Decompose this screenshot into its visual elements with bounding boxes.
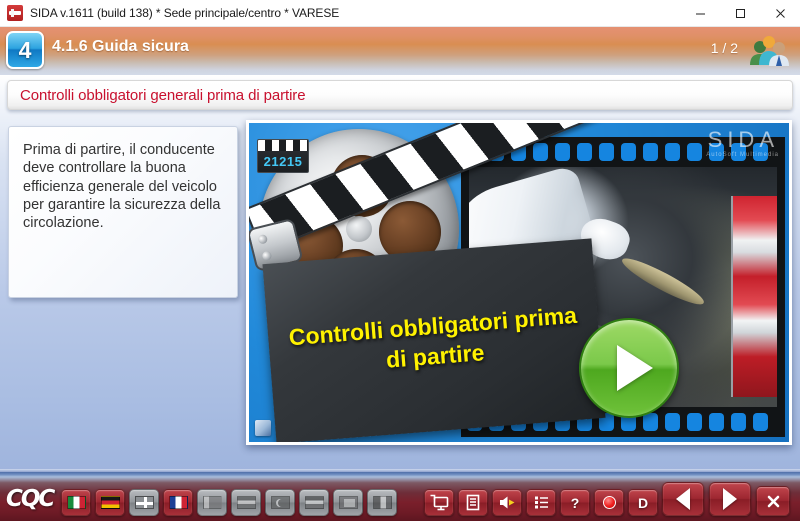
clip-tag-stripe	[258, 140, 308, 151]
presentation-screen-button[interactable]	[424, 489, 454, 516]
flag-disabled-1-icon	[203, 496, 222, 509]
play-button[interactable]	[579, 318, 679, 418]
window-controls	[680, 0, 800, 27]
audio-play-button[interactable]	[492, 489, 522, 516]
record-button[interactable]	[594, 489, 624, 516]
document-icon	[465, 494, 481, 511]
film-hole	[687, 143, 702, 161]
flag-italian-icon	[67, 496, 86, 509]
flag-disabled-5-icon	[339, 496, 358, 509]
description-panel: Prima di partire, il conducente deve con…	[8, 126, 238, 298]
clip-number: 21215	[258, 151, 308, 172]
topic-subtitle: Controlli obbligatori generali prima di …	[20, 87, 305, 104]
film-hole	[665, 413, 680, 431]
index-list-button[interactable]	[526, 489, 556, 516]
film-hole	[665, 143, 680, 161]
users-group-icon[interactable]	[746, 35, 792, 67]
film-hole	[731, 143, 746, 161]
dictionary-label: D	[638, 496, 648, 510]
maximize-button[interactable]	[720, 0, 760, 27]
lesson-header: 4 4.1.6 Guida sicura 1 / 2	[0, 27, 800, 75]
reel-hub	[346, 216, 372, 242]
close-icon	[766, 494, 781, 509]
presentation-screen-icon	[430, 494, 449, 511]
flag-disabled-2-icon	[237, 496, 256, 509]
clip-number-tag: 21215	[257, 139, 309, 173]
film-hole	[643, 143, 658, 161]
language-button-disabled-3	[265, 489, 295, 516]
arrow-left-icon	[676, 488, 690, 510]
language-button-italian[interactable]	[61, 489, 91, 516]
next-button[interactable]	[709, 482, 751, 516]
film-hole	[753, 413, 768, 431]
film-hole	[687, 413, 702, 431]
language-button-disabled-5	[333, 489, 363, 516]
list-index-icon	[533, 494, 550, 511]
language-button-disabled-6	[367, 489, 397, 516]
clapperboard-slate: Controlli obbligatori prima di partire	[262, 238, 605, 443]
flag-disabled-6-icon	[373, 496, 392, 509]
page-indicator: 1 / 2	[711, 40, 738, 56]
film-hole	[709, 143, 724, 161]
film-hole	[533, 143, 548, 161]
language-button-disabled-1	[197, 489, 227, 516]
window-titlebar: SIDA v.1611 (build 138) * Sede principal…	[0, 0, 800, 27]
close-window-button[interactable]	[760, 0, 800, 27]
flag-german-icon	[101, 496, 120, 509]
film-hole	[577, 143, 592, 161]
arrow-right-icon	[723, 488, 737, 510]
window-title: SIDA v.1611 (build 138) * Sede principal…	[30, 6, 339, 20]
help-button[interactable]: ?	[560, 489, 590, 516]
lesson-title: 4.1.6 Guida sicura	[52, 38, 189, 56]
sida-corner-icon	[255, 420, 271, 436]
flag-disabled-4-icon	[305, 496, 324, 509]
language-button-german[interactable]	[95, 489, 125, 516]
previous-button[interactable]	[662, 482, 704, 516]
film-hole	[709, 413, 724, 431]
topic-subtitle-bar: Controlli obbligatori generali prima di …	[7, 80, 793, 110]
record-icon	[603, 496, 616, 509]
application-window: SIDA v.1611 (build 138) * Sede principal…	[0, 0, 800, 521]
film-hole	[621, 143, 636, 161]
description-text: Prima di partire, il conducente deve con…	[23, 141, 223, 232]
film-hole	[753, 143, 768, 161]
dictionary-button[interactable]: D	[628, 489, 658, 516]
film-hole	[643, 413, 658, 431]
sida-app-icon	[7, 5, 23, 21]
flag-disabled-3-icon	[271, 496, 290, 509]
flag-english-icon	[135, 496, 154, 509]
vehicle-taillight	[731, 196, 777, 398]
language-button-disabled-2	[231, 489, 261, 516]
chapter-number-badge: 4	[6, 31, 44, 69]
clapperboard-title: Controlli obbligatori prima di partire	[267, 298, 601, 384]
language-button-disabled-4	[299, 489, 329, 516]
help-label: ?	[571, 496, 580, 510]
video-thumbnail[interactable]: SIDA AutoSoft Multimedia Controlli obbli…	[246, 120, 792, 445]
minimize-button[interactable]	[680, 0, 720, 27]
play-triangle-icon	[617, 345, 653, 391]
flag-french-icon	[169, 496, 188, 509]
language-button-french[interactable]	[163, 489, 193, 516]
document-button[interactable]	[458, 489, 488, 516]
film-hole	[599, 143, 614, 161]
audio-play-icon	[498, 494, 517, 511]
bottom-toolbar: CQC	[0, 472, 800, 521]
exit-button[interactable]	[756, 486, 790, 516]
film-hole	[731, 413, 746, 431]
language-button-english[interactable]	[129, 489, 159, 516]
film-hole	[555, 143, 570, 161]
cqc-logo: CQC	[6, 486, 53, 512]
